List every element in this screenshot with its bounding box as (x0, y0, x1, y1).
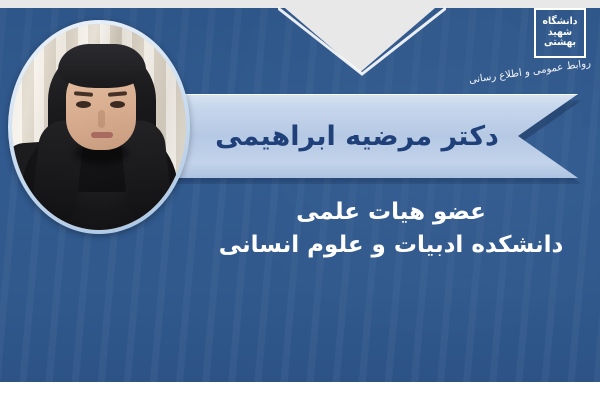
university-emblem-icon: دانشگاه شهید بهشتی (534, 8, 586, 58)
portrait-eyebrow-left (74, 91, 93, 97)
portrait-hijab-front-edge (58, 44, 146, 88)
subtitle-faculty: دانشکده ادبیات و علوم انسانی (196, 229, 586, 262)
subtitle-position: عضو هیات علمی (196, 196, 586, 229)
bottom-white-strip (0, 382, 600, 400)
faculty-profile-card: دکتر مرضیه ابراهیمی عضو هیات علمی دانش (0, 0, 600, 400)
university-logo: دانشگاه شهید بهشتی روابط عمومی و اطلاع ر… (480, 6, 592, 96)
public-relations-label: روابط عمومی و اطلاع رسانی (483, 58, 592, 85)
portrait-eye-right (110, 101, 125, 108)
portrait-photo (12, 24, 186, 230)
portrait-eye-left (76, 101, 91, 108)
portrait-mouth (91, 132, 113, 138)
portrait-nose (98, 110, 105, 128)
portrait-ring (8, 20, 190, 234)
subtitle-block: عضو هیات علمی دانشکده ادبیات و علوم انسا… (196, 196, 586, 261)
portrait-eyebrow-right (108, 91, 127, 97)
university-emblem-label: دانشگاه شهید بهشتی (538, 17, 582, 49)
